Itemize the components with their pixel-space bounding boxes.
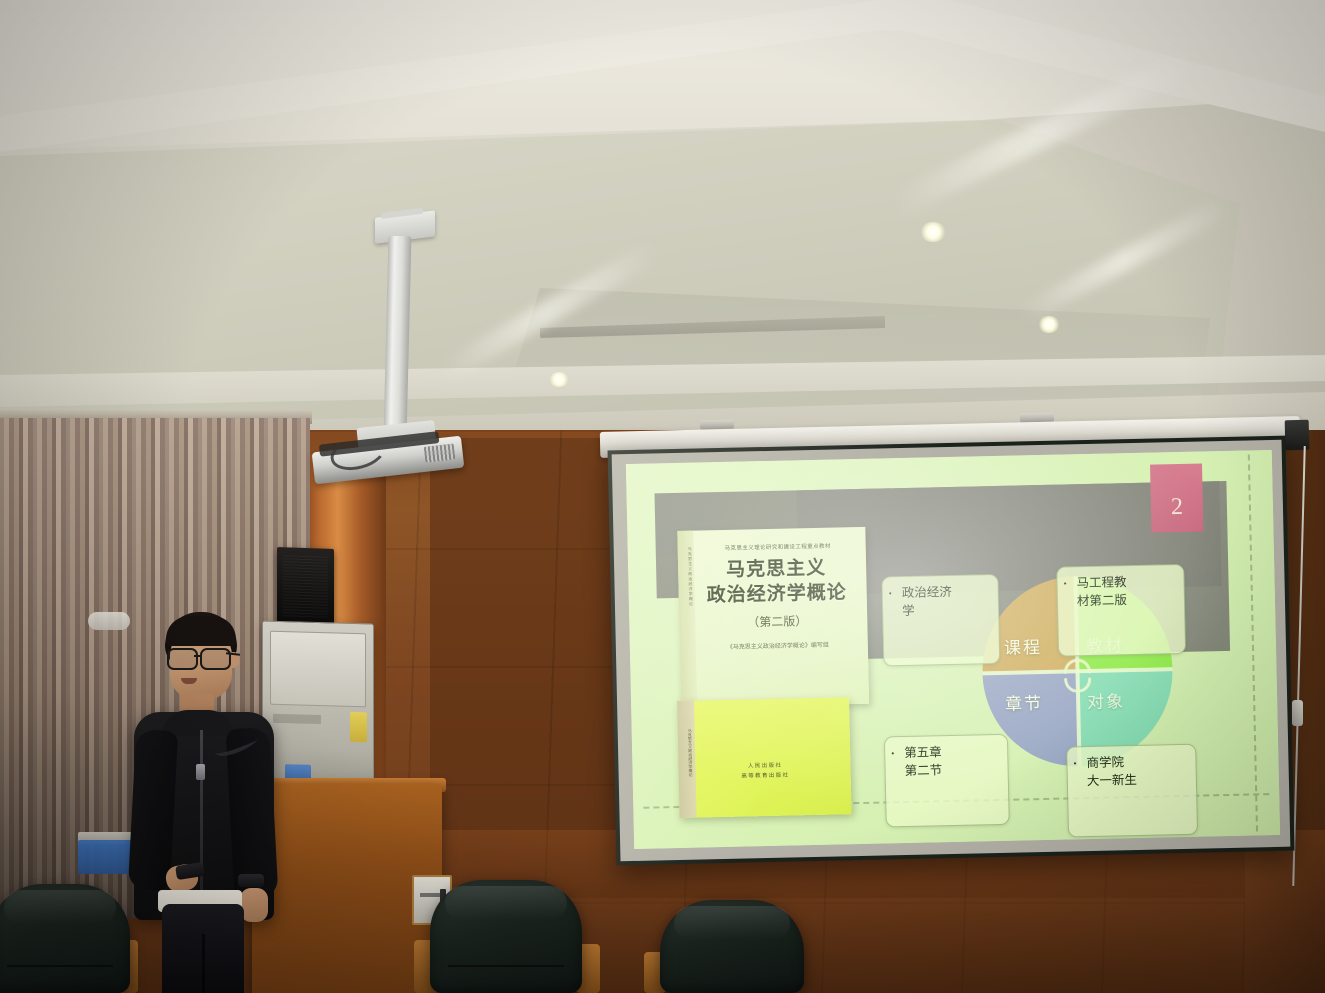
textbook-spine-text: 马克思主义政治经济学概论 (680, 547, 693, 607)
callout-bullet: • (889, 587, 892, 600)
textbook-title-line-2: 政治经济学概论 (692, 580, 861, 609)
audience-chair[interactable] (0, 884, 130, 993)
callout-course-line-1: 政治经济 (892, 583, 989, 603)
audience-chair[interactable] (430, 880, 582, 993)
textbook-cover-main: 马克思主义政治经济学概论 马克思主义理论研究和建设工程重点教材 马克思主义 政治… (677, 527, 869, 708)
textbook-publisher-block: 人 民 出 版 社 高 等 教 育 出 版 社 (678, 759, 850, 784)
presenter-zipper-pull (196, 764, 205, 780)
screen-cord-toggle[interactable] (1292, 700, 1303, 726)
projector-vent (424, 443, 456, 462)
presenter-hair-front (166, 616, 236, 646)
ceiling-downlight (549, 372, 569, 387)
callout-textbook-line-1: 马工程教 (1066, 573, 1174, 593)
chair-seam (7, 965, 113, 967)
callout-chapter: • 第五章 第二节 (884, 734, 1010, 828)
callout-audience-line-2: 大一新生 (1077, 771, 1187, 791)
chair-highlight (674, 906, 789, 940)
callout-bullet: • (1063, 577, 1066, 590)
textbook-title: 马克思主义 政治经济学概论 (692, 555, 861, 609)
callout-audience: • 商学院 大一新生 (1066, 744, 1198, 838)
textbook-author-line: 《马克思主义政治经济学概论》编写组 (694, 639, 862, 652)
chair-highlight (4, 890, 116, 924)
slide-guide-line-right (1248, 454, 1258, 831)
wristwatch (238, 874, 264, 887)
callout-bullet: • (1073, 757, 1076, 770)
chair-highlight (445, 886, 567, 920)
slide-page-badge: 2 (1150, 463, 1203, 532)
energy-label-sticker (350, 712, 367, 742)
textbook-title-line-1: 马克思主义 (692, 555, 861, 584)
cycle-arrow-icon (1057, 652, 1098, 693)
textbook-second-spine: 马克思主义政治经济学概论 (677, 701, 697, 818)
eyeglass-bridge (194, 655, 200, 657)
wheel-label-course: 课程 (1004, 633, 1043, 659)
callout-textbook-line-2: 材第二版 (1067, 591, 1175, 611)
textbook-cover-second: 马克思主义政治经济学概论 人 民 出 版 社 高 等 教 育 出 版 社 (677, 697, 852, 818)
callout-chapter-line-2: 第二节 (894, 761, 998, 781)
eyeglass-lens-left (167, 648, 198, 670)
swoosh-logo-icon (213, 740, 259, 756)
speaker-grille (283, 555, 328, 619)
callout-course-line-2: 学 (892, 601, 989, 621)
presenter (118, 612, 298, 993)
wheel-label-chapter: 章节 (1005, 689, 1044, 715)
callout-bullet: • (891, 747, 894, 760)
ceiling-downlight (1038, 316, 1060, 333)
projection-screen: 2 马克思主义政治经济学概论 马克思主义理论研究和建设工程重点教材 马克思主义 … (608, 436, 1295, 866)
presenter-trouser-seam (202, 934, 205, 993)
projector-pole-mount (384, 236, 412, 437)
audience-chair[interactable] (660, 900, 804, 993)
slide-page-number: 2 (1151, 493, 1204, 521)
screen-surface: 2 马克思主义政治经济学概论 马克思主义理论研究和建设工程重点教材 马克思主义 … (626, 450, 1280, 849)
presentation-slide: 2 马克思主义政治经济学概论 马克思主义理论研究和建设工程重点教材 马克思主义 … (626, 450, 1280, 849)
presenter-jacket-zipper (200, 730, 203, 905)
chair-seam (448, 965, 564, 967)
textbook-series-line: 马克思主义理论研究和建设工程重点教材 (698, 541, 858, 552)
callout-textbook: • 马工程教 材第二版 (1056, 564, 1186, 657)
lecture-hall-photo: 2 马克思主义政治经济学概论 马克思主义理论研究和建设工程重点教材 马克思主义 … (0, 0, 1325, 993)
presenter-right-hand (240, 888, 268, 922)
callout-chapter-line-1: 第五章 (894, 743, 998, 763)
ceiling-downlight (920, 222, 946, 242)
textbook-edition: （第二版） (693, 611, 861, 632)
eyeglasses-icon (167, 648, 235, 666)
screen-bracket (700, 420, 734, 430)
callout-course: • 政治经济 学 (881, 574, 1000, 667)
